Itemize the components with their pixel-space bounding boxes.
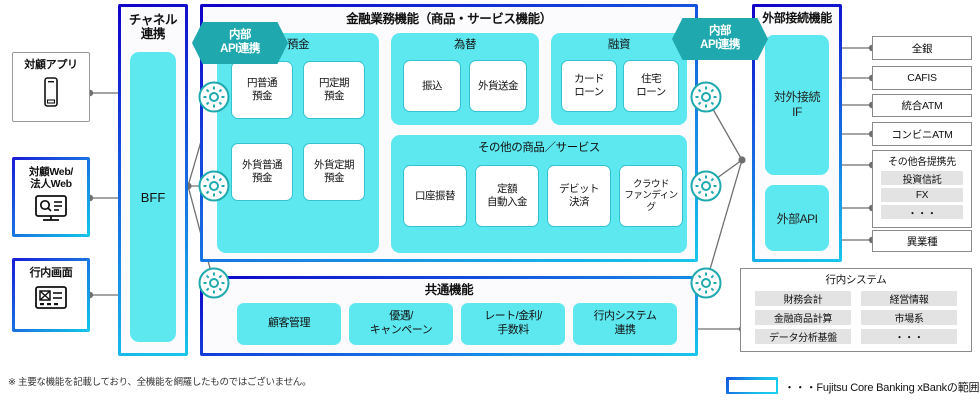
external-api-block[interactable]: 外部API: [765, 185, 829, 251]
internal-api-badge-left: 内部 API連携: [192, 22, 288, 64]
service-tile[interactable]: 定額 自動入金: [475, 165, 539, 227]
other-partners-title: その他各提携先: [873, 153, 971, 168]
common-functions-panel: 共通機能 顧客管理 優遇/ キャンペーン レート/金利/ 手数料 行内システム …: [200, 276, 698, 356]
common-tile[interactable]: 顧客管理: [237, 303, 341, 345]
external-panel-title: 外部接続機能: [755, 12, 839, 26]
internal-system-chip[interactable]: 市場系: [861, 310, 957, 325]
service-tile[interactable]: 円普通 預金: [231, 61, 293, 119]
endpoint-zengin[interactable]: 全銀: [872, 36, 972, 60]
channel-device-card-branch[interactable]: 行内画面: [12, 258, 90, 332]
legend-swatch: [726, 377, 778, 394]
partner-chip[interactable]: ・・・: [881, 205, 963, 219]
service-tile[interactable]: 口座振替: [403, 165, 467, 227]
group-title: その他の商品／サービス: [391, 142, 687, 156]
core-group-loan: 融資 カード ローン 住宅 ローン: [551, 33, 687, 125]
service-tile[interactable]: 住宅 ローン: [623, 60, 679, 112]
internal-system-chip[interactable]: データ分析基盤: [755, 329, 851, 344]
external-if-label: 対外接続 IF: [774, 90, 820, 120]
mobile-phone-icon: [40, 76, 62, 108]
endpoint-convenience-atm[interactable]: コンビニATM: [872, 122, 972, 146]
device-label: 対顧アプリ: [24, 59, 78, 72]
internal-api-badge-right: 内部 API連携: [672, 18, 768, 60]
internal-systems-box: 行内システム 財務会計 経営情報 金融商品計算 市場系 データ分析基盤 ・・・: [740, 268, 972, 352]
device-label: 対顧Web/ 法人Web: [29, 166, 73, 190]
service-tile[interactable]: 外貨送金: [469, 60, 527, 112]
footnote: ※ 主要な機能を記載しており、全機能を網羅したものではございません。: [8, 374, 528, 388]
external-if-block[interactable]: 対外接続 IF: [765, 35, 829, 175]
service-tile[interactable]: 円定期 預金: [303, 61, 365, 119]
service-tile[interactable]: 外貨普通 預金: [231, 143, 293, 201]
internal-system-chip[interactable]: 経営情報: [861, 291, 957, 306]
gear-icon-core-deposit-mid: [198, 170, 230, 202]
bff-label: BFF: [141, 190, 166, 205]
endpoint-cafis[interactable]: CAFIS: [872, 66, 972, 90]
internal-system-chip[interactable]: 金融商品計算: [755, 310, 851, 325]
desktop-search-icon: [33, 194, 69, 224]
core-group-other-services: その他の商品／サービス 口座振替 定額 自動入金 デビット 決済 クラウド ファ…: [391, 135, 687, 253]
channel-panel: チャネル 連携 BFF: [118, 4, 188, 356]
endpoint-other-partners-group[interactable]: その他各提携先 投資信託 FX ・・・: [872, 150, 972, 228]
internal-system-chip[interactable]: 財務会計: [755, 291, 851, 306]
gear-icon-core-deposit-in: [198, 81, 230, 113]
group-title: 融資: [551, 39, 687, 53]
service-tile[interactable]: 振込: [403, 60, 461, 112]
group-title: 為替: [391, 39, 539, 53]
device-label: 行内画面: [30, 267, 73, 280]
external-api-label: 外部API: [777, 210, 818, 227]
common-tile[interactable]: 行内システム 連携: [573, 303, 677, 345]
endpoint-integrated-atm[interactable]: 統合ATM: [872, 94, 972, 117]
core-group-deposit: 預金 円普通 預金 円定期 預金 外貨普通 預金 外貨定期 預金: [217, 33, 379, 253]
core-group-exchange: 為替 振込 外貨送金: [391, 33, 539, 125]
legend-label: ・・・Fujitsu Core Banking xBankの範囲: [784, 379, 980, 395]
service-tile[interactable]: クラウド ファンディング: [619, 165, 683, 227]
gear-icon-core-other-out: [690, 170, 722, 202]
common-tile[interactable]: 優遇/ キャンペーン: [349, 303, 453, 345]
internal-system-chip[interactable]: ・・・: [861, 329, 957, 344]
service-tile[interactable]: カード ローン: [561, 60, 617, 112]
internal-systems-title: 行内システム: [741, 272, 971, 287]
endpoint-other-industry[interactable]: 異業種: [872, 230, 972, 252]
terminal-screen-icon: [33, 284, 69, 312]
channel-device-card-web[interactable]: 対顧Web/ 法人Web: [12, 157, 90, 237]
service-tile[interactable]: 外貨定期 預金: [303, 143, 365, 201]
common-panel-title: 共通機能: [203, 283, 695, 297]
service-tile[interactable]: デビット 決済: [547, 165, 611, 227]
gear-icon-common-left: [198, 267, 230, 299]
partner-chip[interactable]: 投資信託: [881, 171, 963, 185]
gear-icon-common-right: [690, 267, 722, 299]
channel-panel-title: チャネル 連携: [121, 13, 185, 42]
gear-icon-core-loan-out: [690, 81, 722, 113]
bff-block[interactable]: BFF: [130, 52, 176, 342]
partner-chip[interactable]: FX: [881, 188, 963, 202]
channel-device-card-app[interactable]: 対顧アプリ: [12, 52, 90, 122]
common-tile[interactable]: レート/金利/ 手数料: [461, 303, 565, 345]
